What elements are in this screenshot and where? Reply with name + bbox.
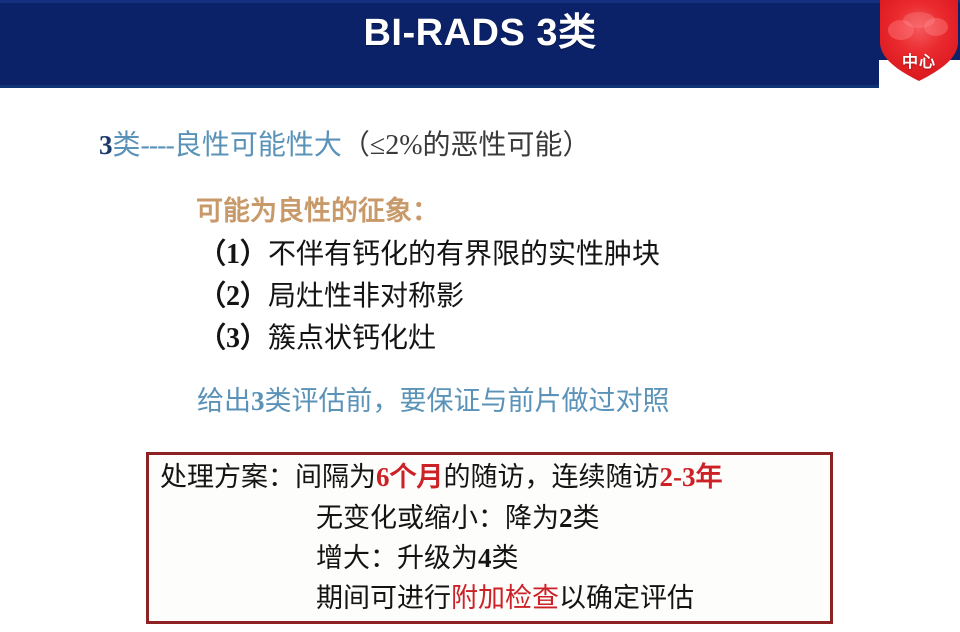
management-l2-a: 无变化或缩小：降为 [316,503,559,533]
list-item-index: （2） [198,281,268,312]
heading-description: 良性可能性大 [174,130,342,161]
management-l3-num: 4 [478,543,492,573]
heading-line: 3类----良性可能性大（≤2%的恶性可能） [99,130,591,162]
management-label: 处理方案： [160,462,295,492]
heading-number: 3 [99,130,113,160]
management-l3-b: 类 [492,543,519,573]
list-item: （3）簇点状钙化灶 [198,323,436,355]
heading-parenthetical: （≤2%的恶性可能） [342,130,591,161]
management-additional-exam-highlight: 附加检查 [451,583,559,613]
page-title: BI-RADS 3类 [0,13,960,55]
slide-canvas: BI-RADS 3类 中心 3类----良性可能性大（≤2%的恶性可能） 可能为… [0,0,960,632]
management-l2-num: 2 [559,503,573,533]
note-lead: 给出 [197,386,251,416]
management-interval-highlight: 6个月 [376,462,444,492]
management-l1-a: 间隔为 [295,462,376,492]
list-item-index: （1） [198,239,268,270]
management-line-3: 增大：升级为4类 [316,543,519,574]
management-duration-highlight: 2-3年 [660,462,723,492]
signs-heading: 可能为良性的征象： [196,196,439,227]
list-item: （2）局灶性非对称影 [198,281,464,313]
logo-label: 中心 [879,48,959,72]
list-item-label: 局灶性非对称影 [268,281,464,312]
management-l4-a: 期间可进行 [316,583,451,613]
list-item-label: 不伴有钙化的有界限的实性肿块 [268,239,660,270]
organization-logo: 中心 [879,0,959,84]
management-l2-b: 类 [573,503,600,533]
assessment-note: 给出3类评估前，要保证与前片做过对照 [197,386,670,417]
management-line-2: 无变化或缩小：降为2类 [316,503,600,534]
management-l3-a: 增大：升级为 [316,543,478,573]
list-item: （1）不伴有钙化的有界限的实性肿块 [198,239,660,271]
list-item-index: （3） [198,323,268,354]
header-bar: BI-RADS 3类 [0,0,960,88]
list-item-label: 簇点状钙化灶 [268,323,436,354]
management-line-1: 处理方案：间隔为6个月的随访，连续随访2-3年 [160,462,723,493]
management-l4-b: 以确定评估 [559,583,694,613]
heading-category: 类 [113,130,141,161]
note-number: 3 [251,386,265,416]
management-l1-b: 的随访，连续随访 [444,462,660,492]
note-tail: 类评估前，要保证与前片做过对照 [265,386,670,416]
management-line-4: 期间可进行附加检查以确定评估 [316,583,694,614]
heading-dash: ---- [141,130,174,161]
